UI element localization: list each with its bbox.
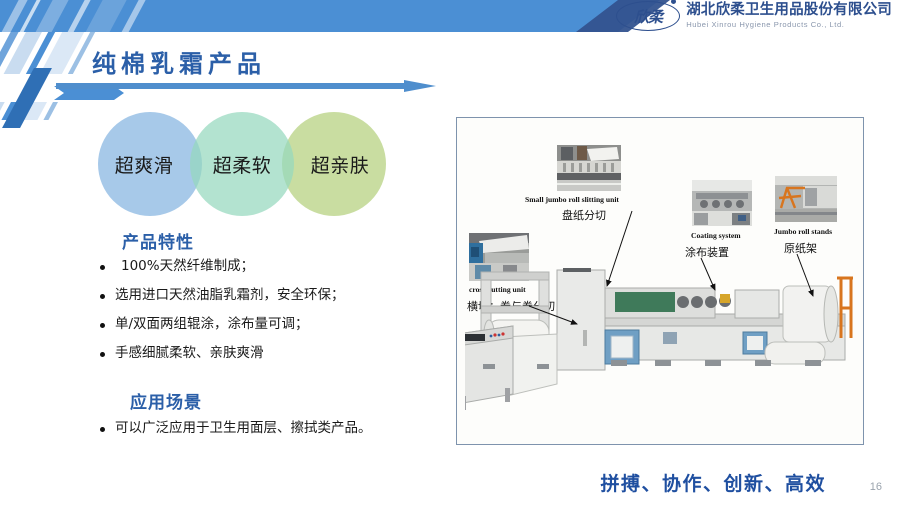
- applications-heading: 应用场景: [130, 388, 202, 413]
- list-item-text: 单/双面两组辊涂，涂布量可调；: [115, 316, 309, 333]
- company-logo-icon: 欣柔: [616, 1, 680, 31]
- thumbnail-slitting-unit: [557, 145, 621, 191]
- features-heading: 产品特性: [122, 228, 194, 253]
- logo-text: 欣柔: [634, 6, 662, 27]
- list-item-text: 选用进口天然油脂乳霜剂，安全环保；: [115, 287, 345, 304]
- footer-slogan: 拼搏、协作、创新、高效: [600, 469, 826, 496]
- thumbnail-jumbo-roll-stands: [775, 176, 837, 222]
- venn-circle-1: 超爽滑: [98, 112, 202, 216]
- list-item-text: 手感细腻柔软、亲肤爽滑: [115, 345, 264, 362]
- bullet-dot-icon: [100, 265, 105, 270]
- label-coating-system-en: Coating system: [691, 231, 741, 240]
- slide-header: 欣柔 湖北欣柔卫生用品股份有限公司 Hubei Xinrou Hygiene P…: [0, 0, 900, 32]
- company-brand: 欣柔 湖北欣柔卫生用品股份有限公司 Hubei Xinrou Hygiene P…: [616, 1, 892, 31]
- label-coating-system-cn: 涂布装置: [685, 244, 729, 260]
- label-jumbo-roll-stands-cn: 原纸架: [784, 240, 817, 256]
- machine-diagram-panel: Small jumbo roll slitting unit 盘纸分切 Coat…: [456, 117, 864, 445]
- venn-diagram: 超爽滑 超亲肤 超柔软: [98, 112, 388, 216]
- list-item-text: 可以广泛应用于卫生用面层、擦拭类产品。: [115, 420, 372, 437]
- list-item: 手感细腻柔软、亲肤爽滑: [100, 345, 460, 362]
- thumbnail-image: [692, 180, 752, 226]
- list-item: 选用进口天然油脂乳霜剂，安全环保；: [100, 287, 460, 304]
- title-arrow-icon: [56, 80, 436, 92]
- header-diagonal-stripes: [0, 0, 260, 32]
- bullet-dot-icon: [100, 352, 105, 357]
- features-list: 100%天然纤维制成； 选用进口天然油脂乳霜剂，安全环保； 单/双面两组辊涂，涂…: [100, 258, 460, 374]
- venn-label-3: 超亲肤: [311, 151, 370, 178]
- bullet-dot-icon: [100, 323, 105, 328]
- venn-circle-2: 超柔软: [190, 112, 294, 216]
- venn-label-1: 超爽滑: [115, 151, 174, 178]
- list-item-text: 100%天然纤维制成；: [115, 258, 254, 275]
- venn-label-2: 超柔软: [213, 151, 272, 178]
- company-name-cn: 湖北欣柔卫生用品股份有限公司: [686, 3, 892, 18]
- list-item: 可以广泛应用于卫生用面层、擦拭类产品。: [100, 420, 460, 437]
- label-jumbo-roll-stands-en: Jumbo roll stands: [774, 227, 832, 236]
- thumbnail-image: [775, 176, 837, 222]
- label-slitting-unit-cn: 盘纸分切: [562, 207, 606, 223]
- page-number: 16: [870, 481, 882, 493]
- company-name-en: Hubei Xinrou Hygiene Products Co., Ltd.: [686, 21, 892, 29]
- machine-illustration: [465, 268, 855, 428]
- bullet-dot-icon: [100, 427, 105, 432]
- list-item: 100%天然纤维制成；: [100, 258, 460, 275]
- thumbnail-image: [557, 145, 621, 191]
- thumbnail-coating-system: [692, 180, 752, 226]
- slide-root: 欣柔 湖北欣柔卫生用品股份有限公司 Hubei Xinrou Hygiene P…: [0, 0, 900, 510]
- bullet-dot-icon: [100, 294, 105, 299]
- list-item: 单/双面两组辊涂，涂布量可调；: [100, 316, 460, 333]
- applications-list: 可以广泛应用于卫生用面层、擦拭类产品。: [100, 420, 460, 449]
- venn-circle-3: 超亲肤: [282, 112, 386, 216]
- label-slitting-unit-en: Small jumbo roll slitting unit: [525, 195, 619, 204]
- page-title: 纯棉乳霜产品: [92, 44, 266, 79]
